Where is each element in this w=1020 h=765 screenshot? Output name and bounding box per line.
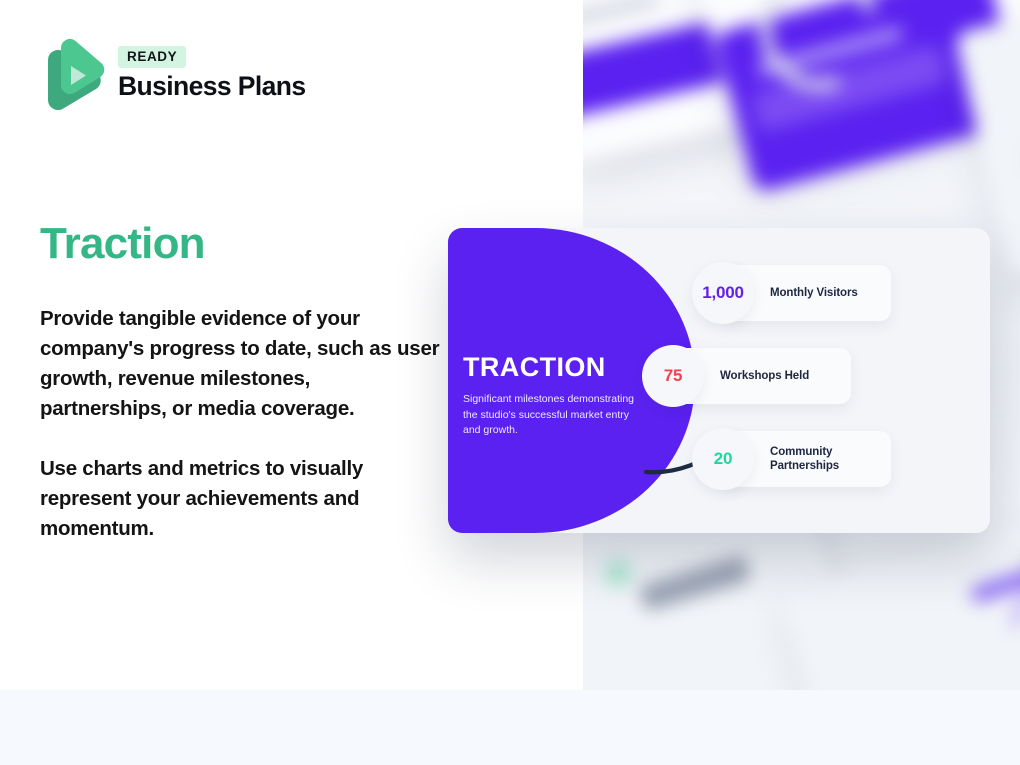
- brand-title: Business Plans: [118, 71, 306, 102]
- play-triangle-logo-icon: [40, 38, 106, 110]
- brand-lockup: READY Business Plans: [40, 38, 306, 110]
- metric-value: 1,000: [702, 283, 744, 303]
- body-copy: Provide tangible evidence of your compan…: [40, 304, 440, 544]
- metrics-list: Monthly Visitors 1,000 Workshops Held 75…: [690, 228, 990, 533]
- page-title: Traction: [40, 219, 205, 269]
- body-paragraph-1: Provide tangible evidence of your compan…: [40, 304, 440, 424]
- slide-preview-page: READY Business Plans Traction Provide ta…: [0, 0, 1020, 765]
- body-paragraph-2: Use charts and metrics to visually repre…: [40, 454, 440, 544]
- metric-label: Monthly Visitors: [770, 286, 858, 300]
- brand-text: READY Business Plans: [118, 46, 306, 102]
- metric-label: Workshops Held: [720, 369, 809, 383]
- slide-title: TRACTION: [463, 352, 606, 383]
- background-dot: [605, 560, 631, 586]
- ready-badge: READY: [118, 46, 186, 68]
- metric-circle: 1,000: [692, 262, 754, 324]
- slide-subtitle: Significant milestones demonstrating the…: [463, 392, 648, 439]
- metric-value: 75: [664, 366, 683, 386]
- bottom-band: [0, 690, 1020, 765]
- metric-label: Community Partnerships: [770, 445, 891, 473]
- featured-slide-card[interactable]: TRACTION Significant milestones demonstr…: [448, 228, 990, 533]
- metric-value: 20: [714, 449, 733, 469]
- metric-circle: 20: [692, 428, 754, 490]
- metric-circle: 75: [642, 345, 704, 407]
